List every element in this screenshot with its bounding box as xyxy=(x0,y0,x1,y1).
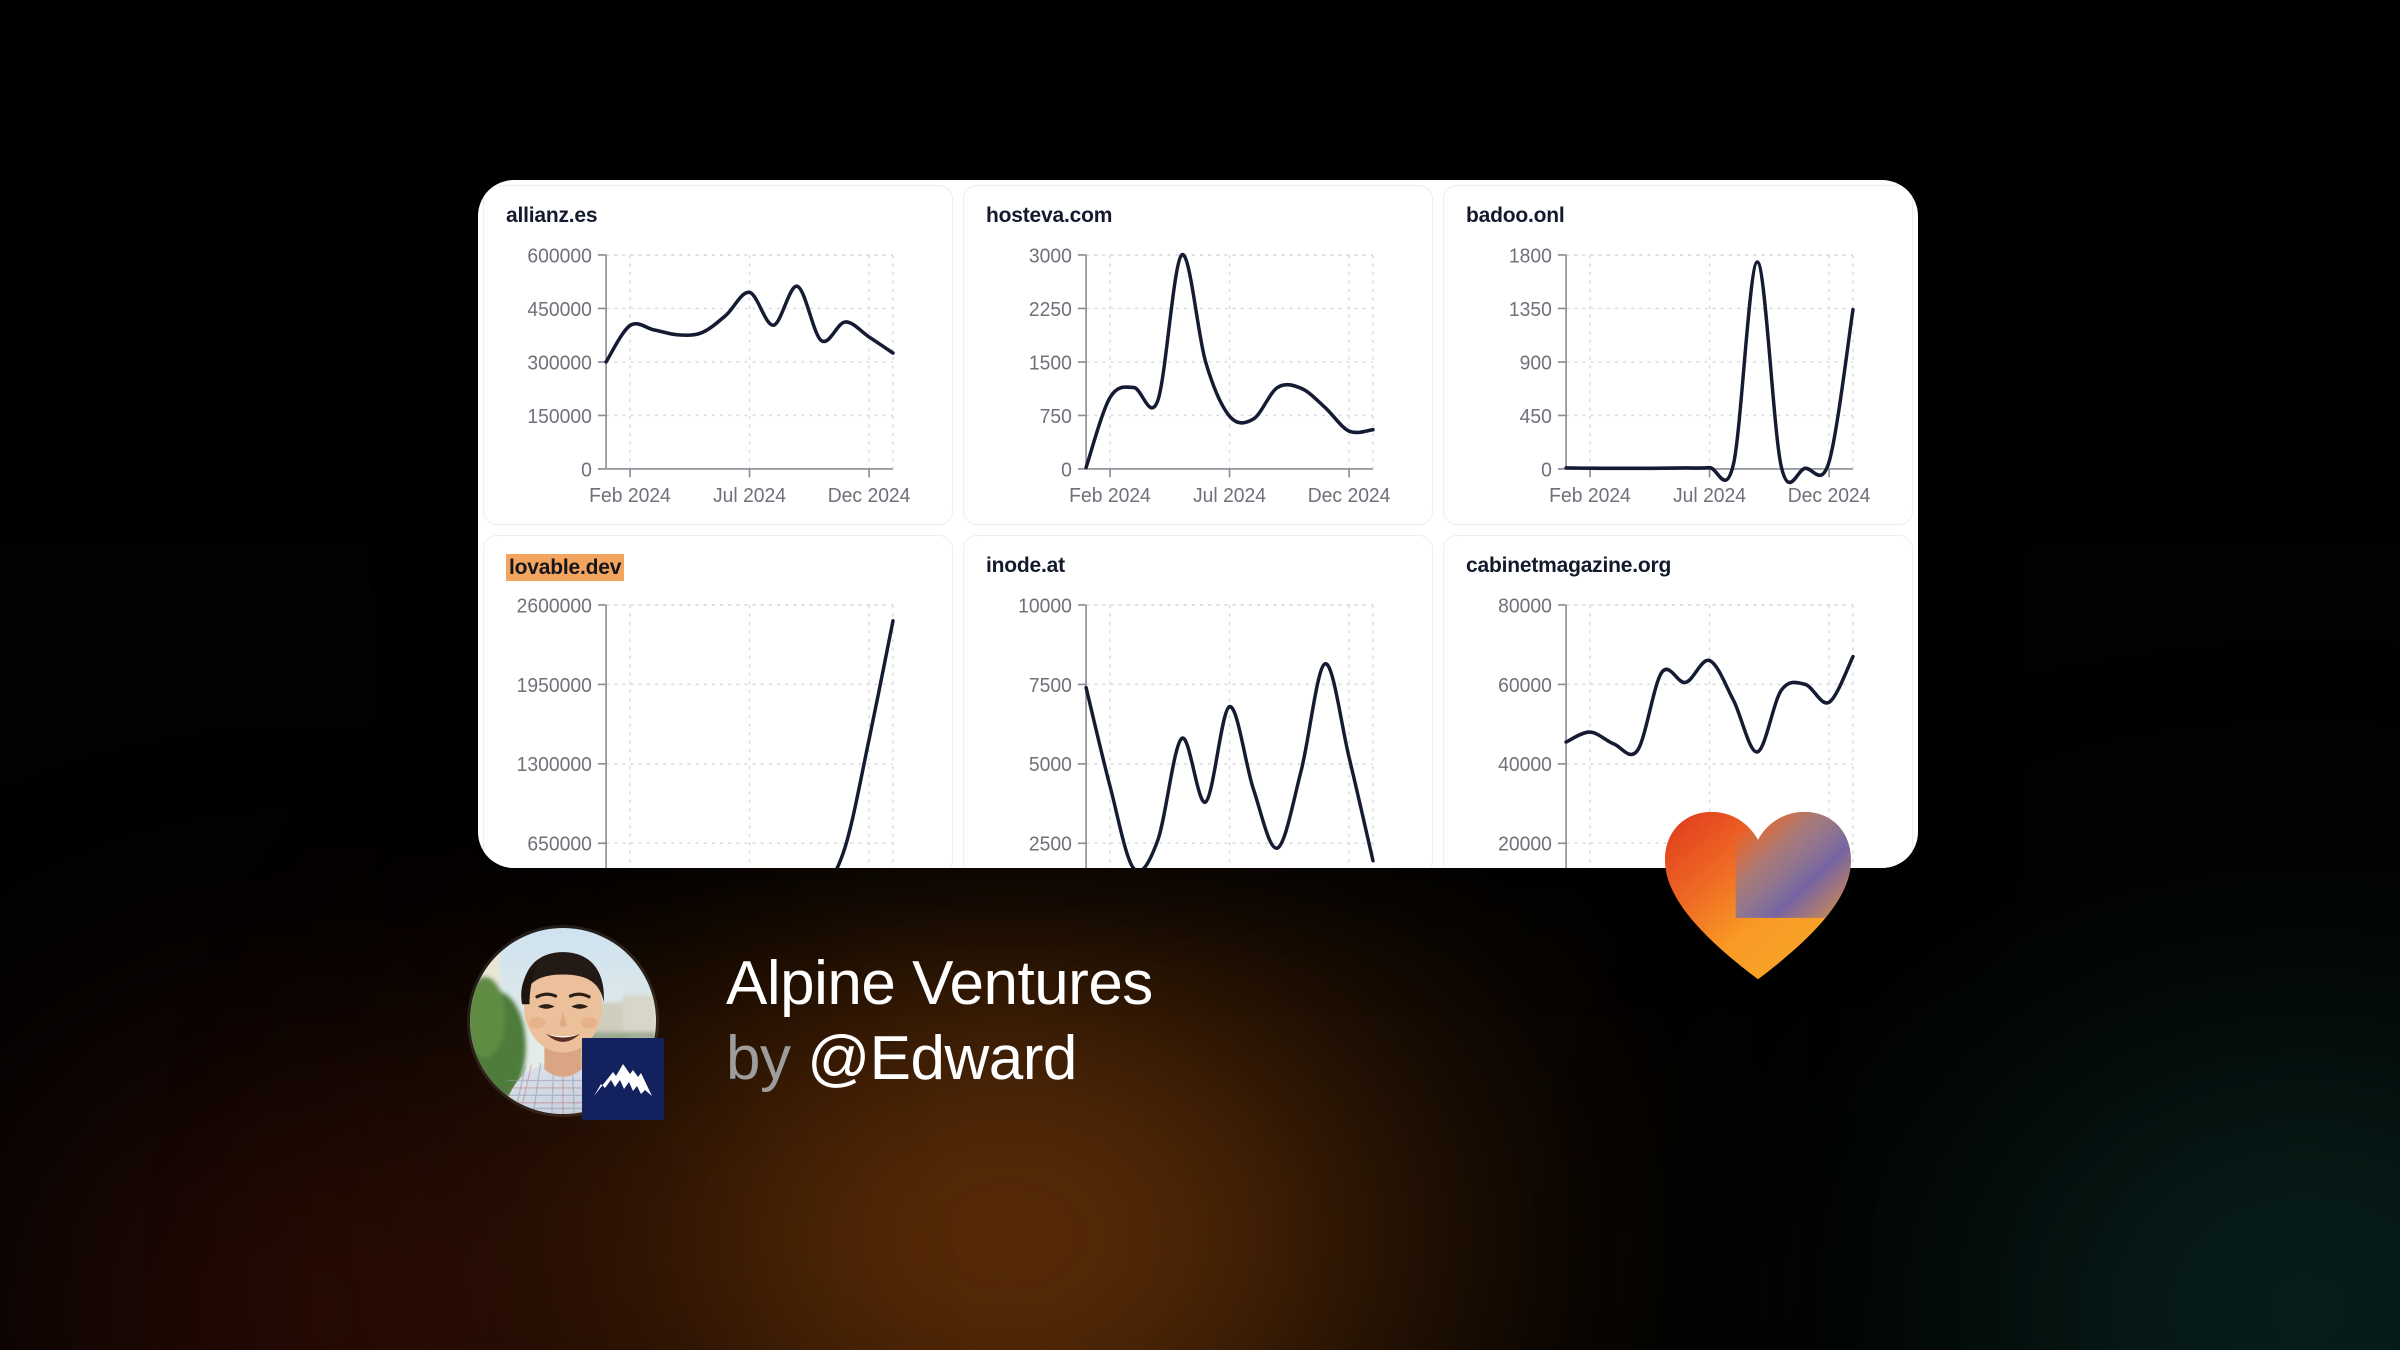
series-line xyxy=(1566,262,1853,482)
y-tick-label: 0 xyxy=(1541,459,1552,481)
chart-card-badoo-onl[interactable]: badoo.onl045090013501800Feb 2024Jul 2024… xyxy=(1443,185,1913,525)
x-tick-label: Jul 2024 xyxy=(1193,484,1266,506)
chart-title: badoo.onl xyxy=(1466,204,1565,227)
chart-cell: hosteva.com0750150022503000Feb 2024Jul 2… xyxy=(958,180,1438,530)
chart-title-row: cabinetmagazine.org xyxy=(1466,554,1890,577)
chart-grid: allianz.es0150000300000450000600000Feb 2… xyxy=(478,180,1918,868)
chart-cell: inode.at25005000750010000 xyxy=(958,530,1438,868)
x-tick-label: Dec 2024 xyxy=(1788,484,1871,506)
chart-title: inode.at xyxy=(986,554,1065,577)
y-tick-label: 10000 xyxy=(1018,595,1072,617)
chart-cell: lovable.dev650000130000019500002600000 xyxy=(478,530,958,868)
chart-plot-area: 0750150022503000Feb 2024Jul 2024Dec 2024 xyxy=(964,238,1432,524)
chart-title-row: lovable.dev xyxy=(506,554,930,581)
y-tick-label: 750 xyxy=(1040,406,1072,428)
chart-title: lovable.dev xyxy=(506,554,624,581)
brand-text: Alpine Ventures by @Edward xyxy=(726,949,1153,1094)
brand-subtitle: by @Edward xyxy=(726,1024,1153,1093)
chart-card-inode-at[interactable]: inode.at25005000750010000 xyxy=(963,535,1433,868)
y-tick-label: 3000 xyxy=(1029,245,1072,267)
series-line xyxy=(1086,664,1373,868)
chart-title-row: badoo.onl xyxy=(1466,204,1890,227)
x-tick-label: Dec 2024 xyxy=(828,484,911,506)
y-tick-label: 1950000 xyxy=(517,674,592,696)
chart-title: cabinetmagazine.org xyxy=(1466,554,1671,577)
chart-cell: badoo.onl045090013501800Feb 2024Jul 2024… xyxy=(1438,180,1918,530)
y-tick-label: 150000 xyxy=(527,406,591,428)
chart-card-allianz-es[interactable]: allianz.es0150000300000450000600000Feb 2… xyxy=(483,185,953,525)
y-tick-label: 2600000 xyxy=(517,595,592,617)
y-tick-label: 0 xyxy=(581,459,592,481)
y-tick-label: 40000 xyxy=(1498,754,1552,776)
avatar-wrap xyxy=(470,928,656,1114)
chart-title: hosteva.com xyxy=(986,204,1112,227)
y-tick-label: 20000 xyxy=(1498,833,1552,855)
chart-title-row: hosteva.com xyxy=(986,204,1410,227)
chart-svg: 25005000750010000 xyxy=(964,588,1432,868)
y-tick-label: 2250 xyxy=(1029,299,1072,321)
mountain-icon xyxy=(593,1058,653,1100)
chart-svg: 0750150022503000Feb 2024Jul 2024Dec 2024 xyxy=(964,238,1432,524)
chart-svg: 650000130000019500002600000 xyxy=(484,588,952,868)
chart-plot-area: 650000130000019500002600000 xyxy=(484,588,952,868)
y-tick-label: 2500 xyxy=(1029,833,1072,855)
x-tick-label: Feb 2024 xyxy=(589,484,671,506)
series-line xyxy=(1566,657,1853,755)
chart-title-row: inode.at xyxy=(986,554,1410,577)
brand-title: Alpine Ventures xyxy=(726,949,1153,1018)
chart-title: allianz.es xyxy=(506,204,597,227)
chart-card-lovable-dev[interactable]: lovable.dev650000130000019500002600000 xyxy=(483,535,953,868)
y-tick-label: 900 xyxy=(1520,352,1552,374)
chart-plot-area: 045090013501800Feb 2024Jul 2024Dec 2024 xyxy=(1444,238,1912,524)
x-tick-label: Jul 2024 xyxy=(713,484,786,506)
mountain-logo-badge xyxy=(582,1038,664,1120)
chart-cell: allianz.es0150000300000450000600000Feb 2… xyxy=(478,180,958,530)
y-tick-label: 1500 xyxy=(1029,352,1072,374)
lovable-heart-logo[interactable] xyxy=(1665,810,1851,982)
y-tick-label: 0 xyxy=(1061,459,1072,481)
y-tick-label: 300000 xyxy=(527,352,591,374)
brand-handle: @Edward xyxy=(807,1024,1077,1093)
y-tick-label: 1300000 xyxy=(517,754,592,776)
y-tick-label: 600000 xyxy=(527,245,591,267)
y-tick-label: 650000 xyxy=(527,833,591,855)
y-tick-label: 60000 xyxy=(1498,674,1552,696)
x-tick-label: Dec 2024 xyxy=(1308,484,1391,506)
chart-title-row: allianz.es xyxy=(506,204,930,227)
x-tick-label: Feb 2024 xyxy=(1549,484,1631,506)
y-tick-label: 7500 xyxy=(1029,674,1072,696)
dashboard-panel: allianz.es0150000300000450000600000Feb 2… xyxy=(478,180,1918,868)
chart-card-hosteva-com[interactable]: hosteva.com0750150022503000Feb 2024Jul 2… xyxy=(963,185,1433,525)
x-tick-label: Jul 2024 xyxy=(1673,484,1746,506)
brand-by-label: by xyxy=(726,1024,790,1093)
chart-svg: 0150000300000450000600000Feb 2024Jul 202… xyxy=(484,238,952,524)
y-tick-label: 80000 xyxy=(1498,595,1552,617)
y-tick-label: 450000 xyxy=(527,299,591,321)
y-tick-label: 1800 xyxy=(1509,245,1552,267)
chart-plot-area: 0150000300000450000600000Feb 2024Jul 202… xyxy=(484,238,952,524)
brand-footer: Alpine Ventures by @Edward xyxy=(470,928,1153,1114)
chart-plot-area: 25005000750010000 xyxy=(964,588,1432,868)
y-tick-label: 450 xyxy=(1520,406,1552,428)
chart-svg: 045090013501800Feb 2024Jul 2024Dec 2024 xyxy=(1444,238,1912,524)
x-tick-label: Feb 2024 xyxy=(1069,484,1151,506)
y-tick-label: 1350 xyxy=(1509,299,1552,321)
y-tick-label: 5000 xyxy=(1029,754,1072,776)
